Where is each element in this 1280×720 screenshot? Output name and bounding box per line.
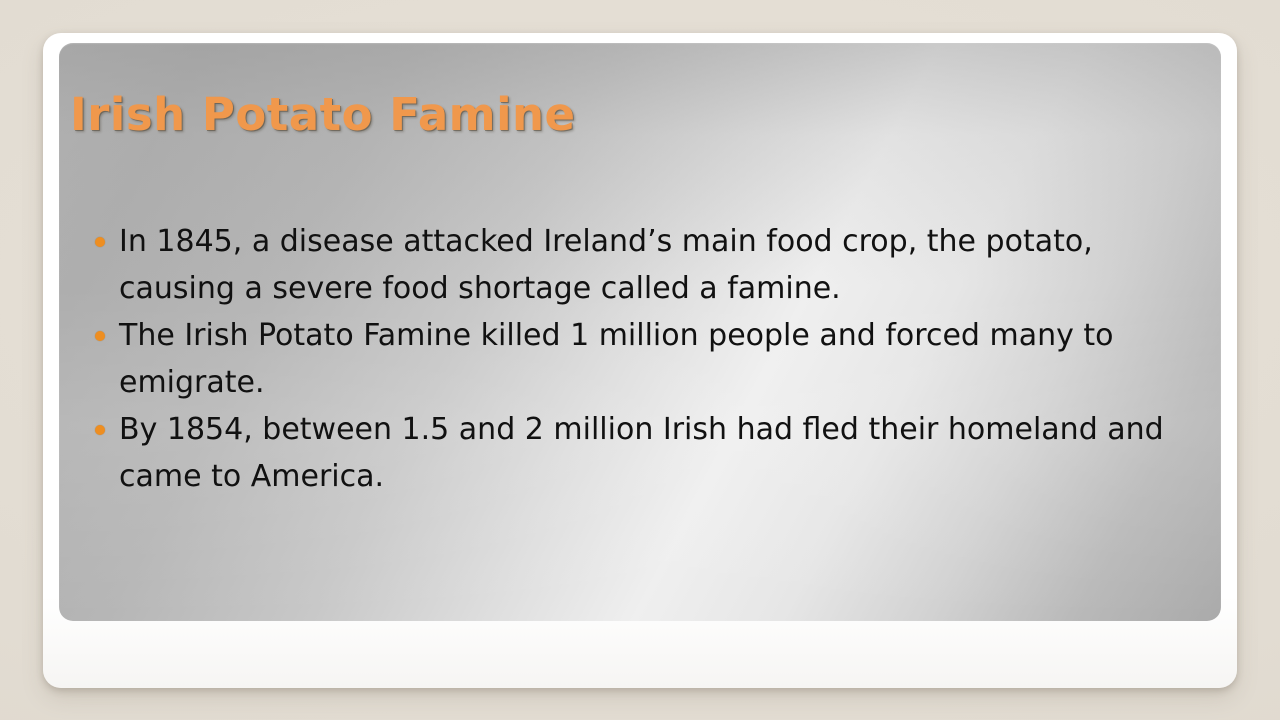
slide-bullet-list: In 1845, a disease attacked Ireland’s ma… — [90, 218, 1202, 500]
bullet-dot-icon — [95, 425, 105, 435]
bullet-dot-icon — [95, 331, 105, 341]
bullet-text: The Irish Potato Famine killed 1 million… — [119, 312, 1202, 406]
bullet-list-item: By 1854, between 1.5 and 2 million Irish… — [90, 406, 1202, 500]
bullet-text: By 1854, between 1.5 and 2 million Irish… — [119, 406, 1202, 500]
bullet-list-item: In 1845, a disease attacked Ireland’s ma… — [90, 218, 1202, 312]
bullet-text: In 1845, a disease attacked Ireland’s ma… — [119, 218, 1202, 312]
slide-stage: Irish Potato Famine In 1845, a disease a… — [0, 0, 1280, 720]
slide-title: Irish Potato Famine — [70, 88, 576, 141]
bullet-dot-icon — [95, 237, 105, 247]
bullet-list-item: The Irish Potato Famine killed 1 million… — [90, 312, 1202, 406]
